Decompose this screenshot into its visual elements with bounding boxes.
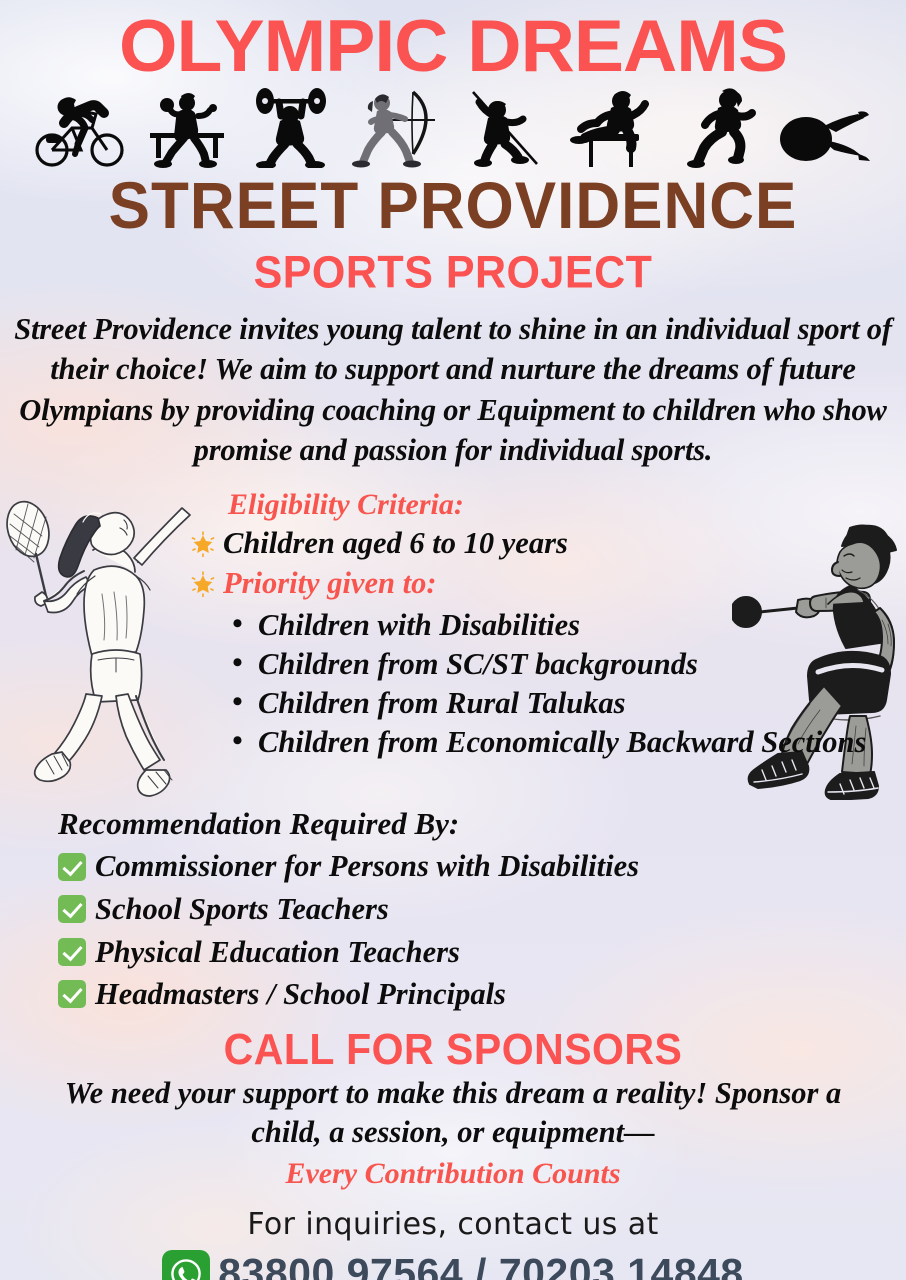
sponsors-heading: CALL FOR SPONSORS xyxy=(0,1027,906,1070)
archery-icon xyxy=(351,88,447,168)
contact-label: For inquiries, contact us at xyxy=(0,1205,906,1244)
hurdles-icon xyxy=(563,88,659,168)
eligibility-age-row: Children aged 6 to 10 years xyxy=(190,524,870,564)
javelin-icon xyxy=(465,88,545,168)
eligibility-block: Eligibility Criteria: Children aged 6 to… xyxy=(0,480,906,762)
long-jump-icon xyxy=(776,106,872,168)
recommendation-heading: Recommendation Required By: xyxy=(58,804,886,844)
weightlifting-icon xyxy=(249,88,333,168)
poster-canvas: OLYMPIC DREAMS xyxy=(0,0,906,1280)
subtitle-project: SPORTS PROJECT xyxy=(0,251,906,296)
list-item: Headmasters / School Principals xyxy=(58,974,886,1015)
sport-silhouette-row xyxy=(0,82,906,168)
check-icon xyxy=(58,853,86,881)
recommendation-label: Headmasters / School Principals xyxy=(95,974,506,1015)
list-item: School Sports Teachers xyxy=(58,889,886,930)
priority-heading-row: Priority given to: xyxy=(190,564,870,604)
subtitle-org: STREET PROVIDENCE xyxy=(0,174,906,240)
check-icon xyxy=(58,938,86,966)
sponsors-body: We need your support to make this dream … xyxy=(0,1070,906,1153)
check-icon xyxy=(58,980,86,1008)
eligibility-heading: Eligibility Criteria: xyxy=(190,486,870,524)
middle-section: Eligibility Criteria: Children aged 6 to… xyxy=(0,480,906,800)
whatsapp-icon[interactable] xyxy=(162,1250,210,1280)
recommendation-label: School Sports Teachers xyxy=(95,889,389,930)
list-item: Children with Disabilities xyxy=(232,606,870,645)
list-item: Physical Education Teachers xyxy=(58,932,886,973)
running-icon xyxy=(678,86,758,168)
recommendation-label: Commissioner for Persons with Disabiliti… xyxy=(95,846,639,887)
page-title: OLYMPIC DREAMS xyxy=(0,0,906,82)
list-item: Children from SC/ST backgrounds xyxy=(232,645,870,684)
list-item: Commissioner for Persons with Disabiliti… xyxy=(58,846,886,887)
contact-row: 83800 97564 / 70203 14848 xyxy=(0,1250,906,1280)
list-item: Children from Economically Backward Sect… xyxy=(232,723,870,762)
priority-heading-label: Priority given to: xyxy=(223,564,436,604)
priority-list: Children with Disabilities Children from… xyxy=(190,606,870,762)
recommendation-label: Physical Education Teachers xyxy=(95,932,460,973)
table-tennis-icon xyxy=(144,90,230,168)
intro-paragraph: Street Providence invites young talent t… xyxy=(0,295,906,470)
recommendation-block: Recommendation Required By: Commissioner… xyxy=(0,804,906,1015)
phone-numbers[interactable]: 83800 97564 / 70203 14848 xyxy=(218,1253,744,1280)
star-icon xyxy=(190,531,216,557)
list-item: Children from Rural Talukas xyxy=(232,684,870,723)
check-icon xyxy=(58,895,86,923)
sponsors-tagline: Every Contribution Counts xyxy=(0,1154,906,1193)
star-icon xyxy=(190,571,216,597)
eligibility-age-label: Children aged 6 to 10 years xyxy=(223,524,568,564)
cycling-icon xyxy=(34,92,126,168)
